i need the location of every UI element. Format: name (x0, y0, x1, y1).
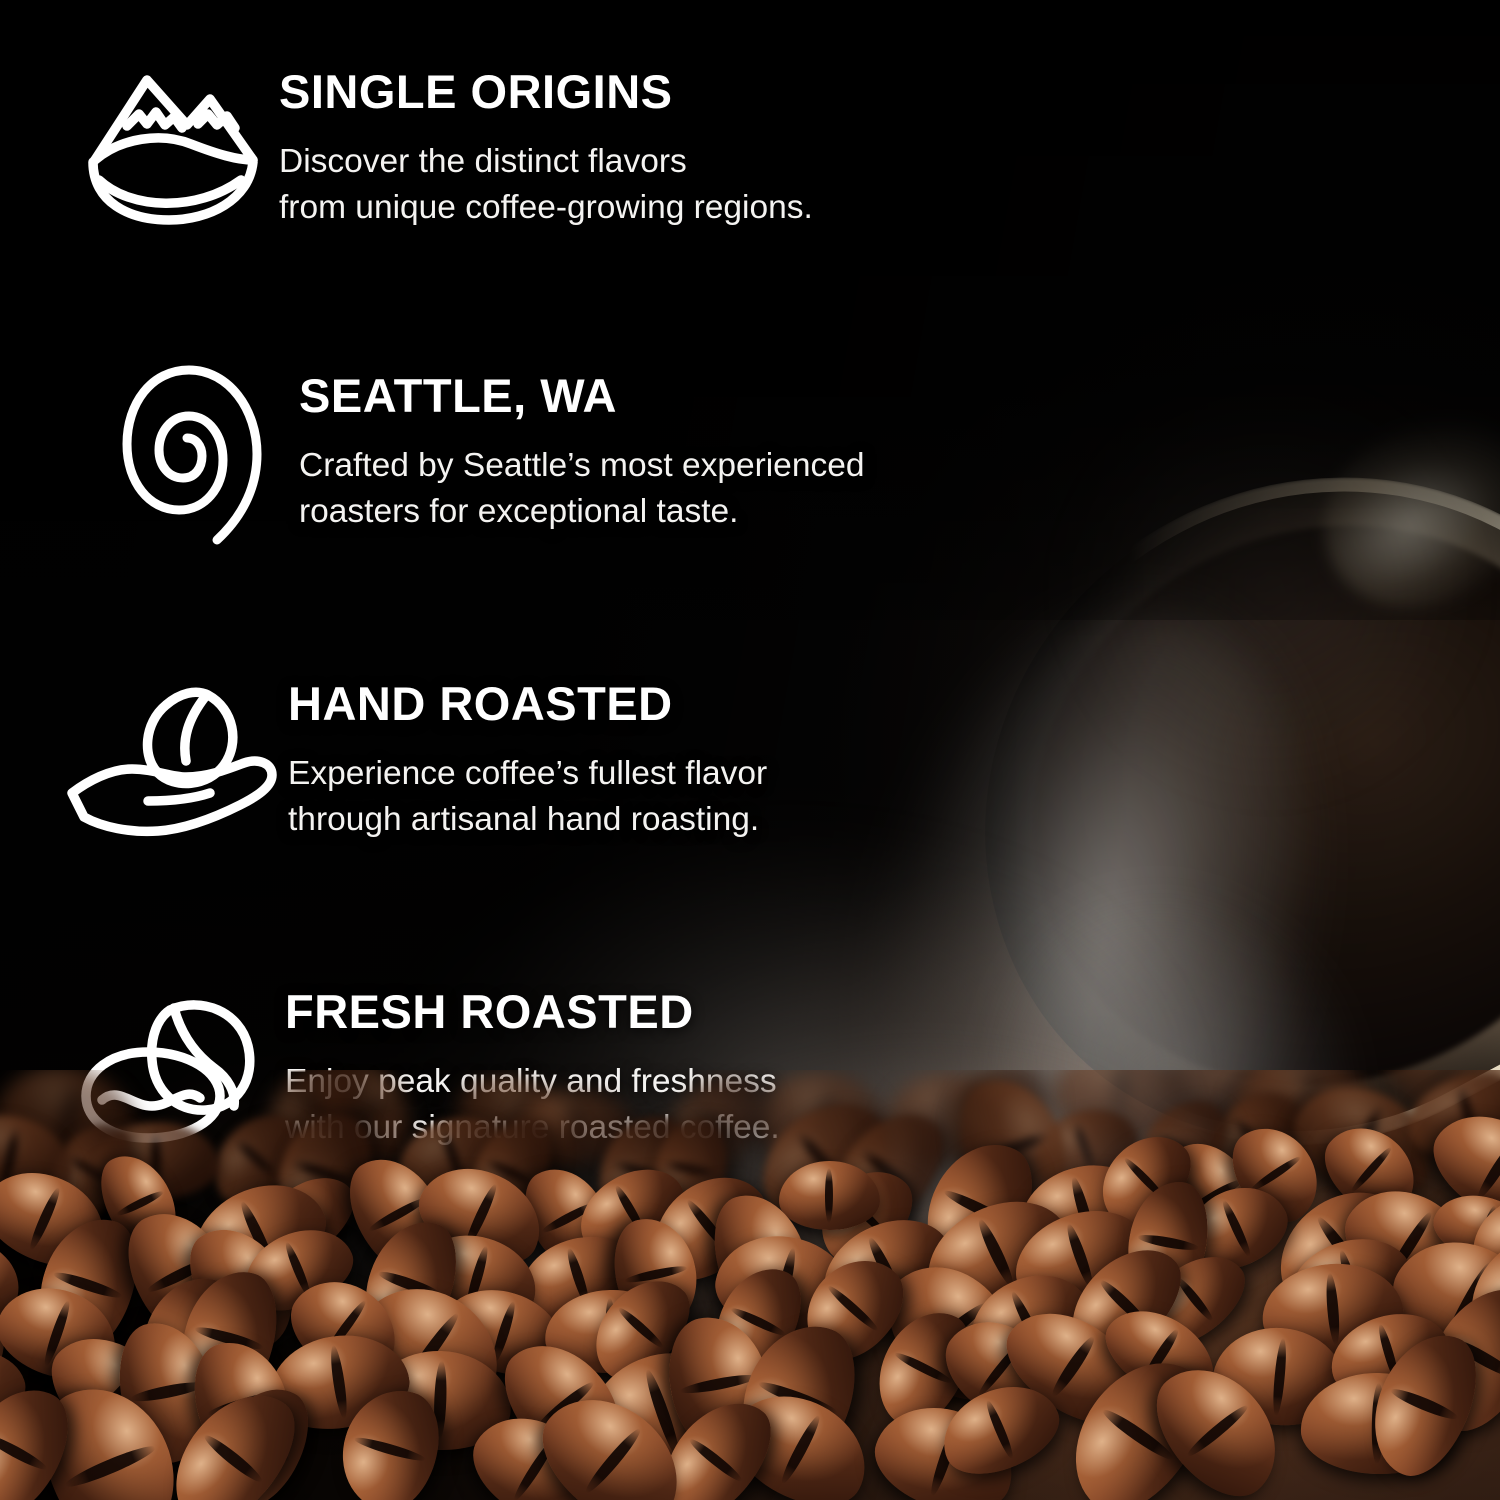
feature-description-line: through artisanal hand roasting. (288, 797, 767, 843)
promo-graphic: SINGLE ORIGINS Discover the distinct fla… (0, 0, 1500, 1500)
feature-item-hand-roasted: HAND ROASTED Experience coffee’s fullest… (58, 678, 1060, 914)
feature-title: HAND ROASTED (288, 680, 767, 729)
feature-description-line: from unique coffee-growing regions. (279, 185, 813, 231)
feature-list: SINGLE ORIGINS Discover the distinct fla… (0, 0, 1060, 1216)
feature-description: Experience coffee’s fullest flavor throu… (288, 751, 767, 843)
feature-description: Crafted by Seattle’s most experienced ro… (299, 443, 864, 535)
feature-copy: SINGLE ORIGINS Discover the distinct fla… (279, 62, 813, 231)
feature-title: SEATTLE, WA (299, 372, 864, 421)
coffee-bean (779, 1161, 880, 1230)
hand-holding-bean-icon (58, 678, 288, 843)
feature-copy: HAND ROASTED Experience coffee’s fullest… (288, 678, 767, 843)
feature-copy: SEATTLE, WA Crafted by Seattle’s most ex… (299, 370, 864, 535)
mountain-coffee-bean-icon (64, 62, 279, 227)
feature-title: FRESH ROASTED (285, 988, 780, 1037)
feature-item-single-origins: SINGLE ORIGINS Discover the distinct fla… (58, 62, 1060, 298)
fingerprint-icon (84, 370, 299, 535)
feature-description: Discover the distinct flavors from uniqu… (279, 139, 813, 231)
feature-description-line: Discover the distinct flavors (279, 139, 813, 185)
feature-description-line: Experience coffee’s fullest flavor (288, 751, 767, 797)
feature-description-line: roasters for exceptional taste. (299, 489, 864, 535)
feature-title: SINGLE ORIGINS (279, 68, 813, 117)
feature-description-line: Crafted by Seattle’s most experienced (299, 443, 864, 489)
feature-item-seattle-wa: SEATTLE, WA Crafted by Seattle’s most ex… (58, 370, 1060, 606)
